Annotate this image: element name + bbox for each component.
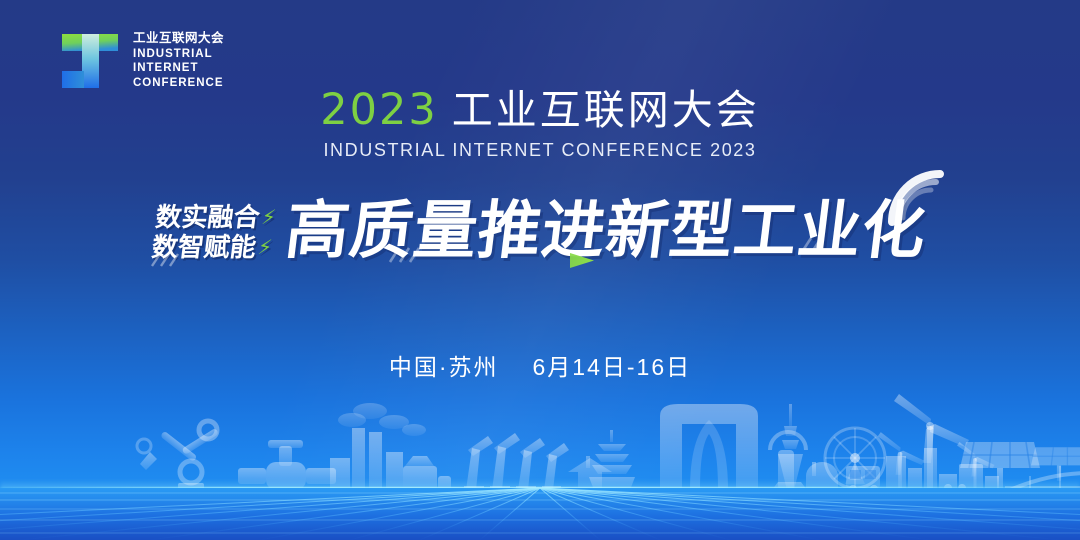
slogan-secondary-text-2: 数智赋能: [150, 235, 257, 262]
event-location: 中国·苏州: [389, 348, 499, 382]
slogan-primary-text: 高质量推进新型工业化: [282, 196, 931, 266]
event-meta: 中国·苏州 6月14日-16日: [0, 348, 1080, 382]
page-title: 2023 工业互联网大会: [0, 89, 1080, 132]
slogan-secondary-text-1: 数实融合: [154, 204, 261, 231]
main-slogan: 数实融合 ⚡ 数智赋能 ⚡ 高质量推进新型工业化: [0, 176, 1080, 286]
perspective-data-grid: [0, 488, 1080, 540]
gate-of-the-orient-icon: [660, 404, 758, 490]
conference-logo: 工业互联网大会 INDUSTRIAL INTERNET CONFERENCE: [56, 30, 224, 92]
grid-lines: [0, 488, 1080, 540]
lightning-bolt-icon: ⚡: [260, 208, 277, 228]
lightning-bolt-icon: ⚡: [257, 238, 274, 258]
slogan-secondary-line-1: 数实融合 ⚡: [154, 204, 277, 231]
ferris-wheel-icon: [825, 428, 885, 488]
logo-chinese-name: 工业互联网大会: [133, 31, 224, 47]
logo-wordmark: 工业互联网大会 INDUSTRIAL INTERNET CONFERENCE: [133, 31, 224, 91]
factory-icon: [330, 403, 451, 490]
slogan-secondary: 数实融合 ⚡ 数智赋能 ⚡: [150, 200, 278, 262]
slogan-secondary-line-2: 数智赋能 ⚡: [150, 235, 273, 262]
conference-banner: 工业互联网大会 INDUSTRIAL INTERNET CONFERENCE 2…: [0, 0, 1080, 540]
slogan-primary: 高质量推进新型工业化: [282, 200, 930, 263]
tv-tower-icon: [772, 404, 807, 490]
logo-english-line-2: INTERNET: [133, 61, 224, 76]
logo-mark-icon: [56, 30, 124, 92]
title-english-subtitle: INDUSTRIAL INTERNET CONFERENCE 2023: [0, 140, 1080, 161]
logo-english-line-1: INDUSTRIAL: [133, 47, 224, 62]
title-chinese: 工业互联网大会: [452, 90, 760, 131]
title-year: 2023: [320, 89, 437, 132]
event-dates: 6月14日-16日: [533, 348, 692, 382]
